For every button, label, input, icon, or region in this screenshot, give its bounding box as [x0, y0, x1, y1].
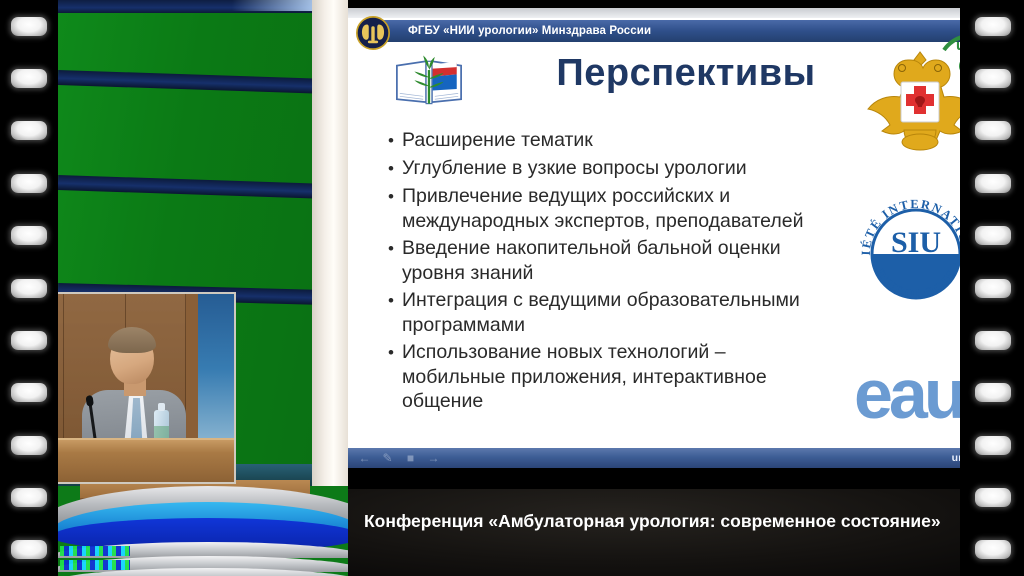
kidney-emblem-icon — [356, 16, 390, 50]
bullet-marker: • — [380, 340, 402, 414]
back-arrow-icon[interactable]: ← — [358, 452, 371, 465]
filmstrip-perforation — [975, 436, 1011, 455]
list-item: • Интеграция с ведущими образовательными… — [380, 288, 830, 337]
filmstrip-perforation — [11, 174, 47, 193]
filmstrip-perforation — [975, 69, 1011, 88]
pen-icon[interactable]: ✎ — [381, 452, 394, 465]
nav-icon-group[interactable]: ← ✎ ■ → — [358, 452, 440, 465]
filmstrip-perforation — [11, 540, 47, 559]
filmstrip-perforation — [975, 121, 1011, 140]
screen-icon[interactable]: ■ — [404, 452, 417, 465]
list-item: • Углубление в узкие вопросы урологии — [380, 156, 830, 181]
filmstrip-perforation — [11, 383, 47, 402]
filmstrip-perforation — [975, 174, 1011, 193]
filmstrip-perforation — [975, 17, 1011, 36]
filmstrip-perforation — [11, 279, 47, 298]
slide-bullet-list: • Расширение тематик • Углубление в узки… — [380, 128, 830, 417]
filmstrip-perforation — [11, 17, 47, 36]
bullet-marker: • — [380, 236, 402, 285]
filmstrip-perforation — [11, 69, 47, 88]
list-item: • Введение накопительной бальной оценки … — [380, 236, 830, 285]
conference-caption-bar: Конференция «Амбулаторная урология: совр… — [348, 489, 1024, 576]
bullet-marker: • — [380, 184, 402, 233]
bullet-text: Введение накопительной бальной оценки ур… — [402, 236, 830, 285]
filmstrip-perforation — [975, 226, 1011, 245]
slide-navigation-bar[interactable]: ← ✎ ■ → uroline.ru — [348, 448, 1024, 468]
filmstrip-perforation — [11, 121, 47, 140]
podium-led-strip — [60, 546, 130, 556]
filmstrip-perforation — [975, 279, 1011, 298]
bullet-text: Привлечение ведущих российских и междуна… — [402, 184, 830, 233]
bullet-text: Интеграция с ведущими образовательными п… — [402, 288, 830, 337]
bullet-marker: • — [380, 128, 402, 153]
filmstrip-perforation — [975, 488, 1011, 507]
svg-text:SIU: SIU — [891, 226, 941, 259]
bullet-marker: • — [380, 156, 402, 181]
conference-title-text: Конференция «Амбулаторная урология: совр… — [364, 511, 1024, 532]
slide-top-edge — [348, 8, 1024, 18]
stage-podium-base — [58, 480, 348, 576]
bullet-text: Углубление в узкие вопросы урологии — [402, 156, 830, 181]
bullet-text: Расширение тематик — [402, 128, 830, 153]
filmstrip-perforation — [11, 226, 47, 245]
hall-ceiling-strip — [58, 0, 348, 13]
organization-name: ФГБУ «НИИ урологии» Минздрава России — [382, 25, 651, 37]
filmstrip-perforation — [11, 436, 47, 455]
video-player-frame: ФГБУ «НИИ урологии» Минздрава России — [0, 0, 1024, 576]
forward-arrow-icon[interactable]: → — [427, 452, 440, 465]
filmstrip-left — [0, 0, 58, 576]
filmstrip-perforation — [11, 488, 47, 507]
bullet-text: Использование новых технологий – мобильн… — [402, 340, 830, 414]
bullet-marker: • — [380, 288, 402, 337]
filmstrip-perforation — [11, 331, 47, 350]
filmstrip-right — [960, 0, 1024, 576]
filmstrip-perforation — [975, 331, 1011, 350]
filmstrip-perforation — [975, 540, 1011, 559]
hall-side-pillar — [312, 0, 348, 486]
podium-led-strip — [60, 560, 130, 570]
list-item: • Расширение тематик — [380, 128, 830, 153]
svg-text:eau: eau — [854, 360, 963, 433]
presentation-slide: ФГБУ «НИИ урологии» Минздрава России — [348, 8, 1024, 468]
list-item: • Привлечение ведущих российских и между… — [380, 184, 830, 233]
list-item: • Использование новых технологий – мобил… — [380, 340, 830, 414]
filmstrip-perforation — [975, 383, 1011, 402]
